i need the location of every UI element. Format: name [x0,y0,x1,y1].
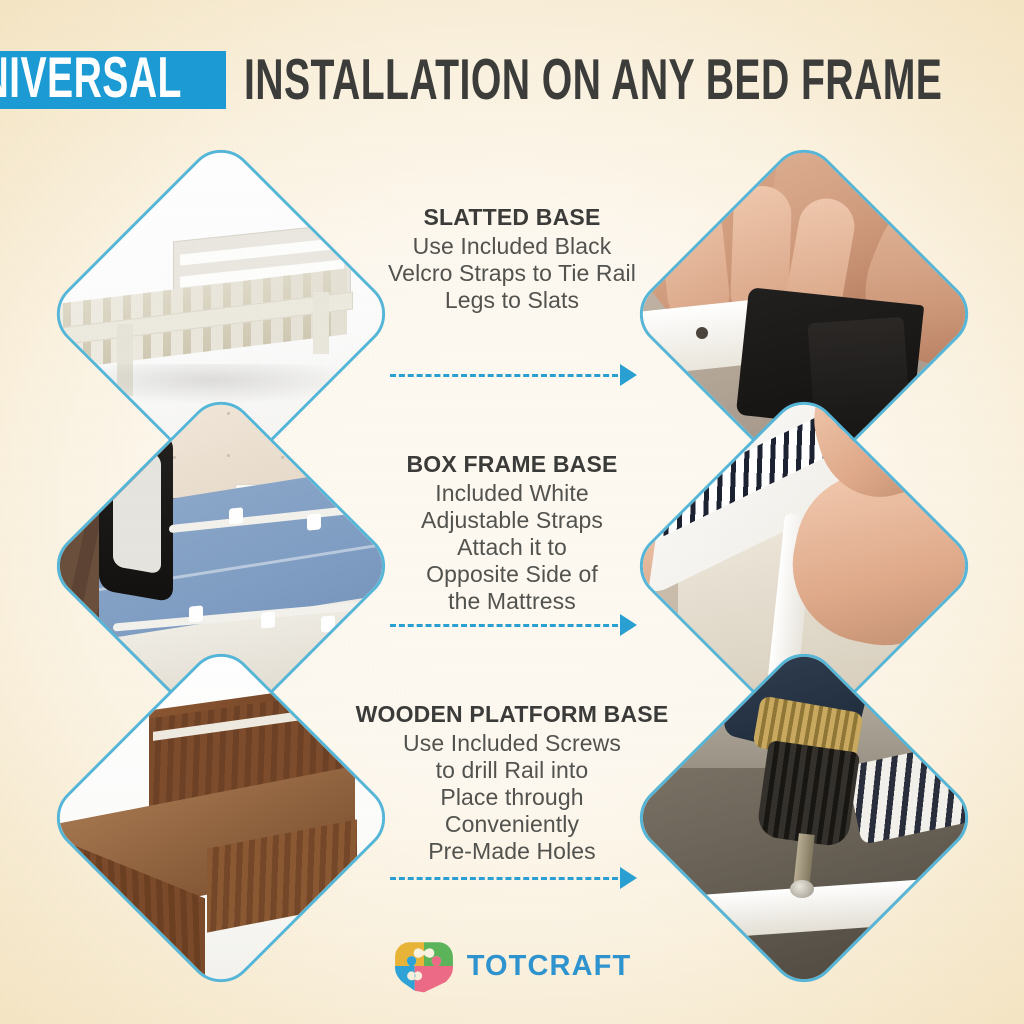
section-box-frame-text: BOX FRAME BASE Included White Adjustable… [347,452,677,615]
header: UNIVERSAL INSTALLATION ON ANY BED FRAME [0,44,1024,116]
section-wooden-platform-text: WOODEN PLATFORM BASE Use Included Screws… [347,702,677,865]
infographic-canvas: UNIVERSAL INSTALLATION ON ANY BED FRAME [0,0,1024,1024]
brand-logo: TOTCRAFT [0,938,1024,994]
arrow-head-icon [620,867,637,889]
header-subtitle: INSTALLATION ON ANY BED FRAME [244,51,942,109]
flow-arrow-1 [390,368,637,382]
arrow-dashed-line [390,877,618,880]
section-title-box-frame: BOX FRAME BASE [347,452,677,478]
section-body-wooden-platform: Use Included Screws to drill Rail into P… [347,730,677,866]
section-body-slatted-base: Use Included Black Velcro Straps to Tie … [347,233,677,314]
flow-arrow-2 [390,618,637,632]
puzzle-heart-icon [393,939,455,993]
section-body-box-frame: Included White Adjustable Straps Attach … [347,480,677,616]
header-highlight-word: UNIVERSAL [0,50,182,108]
header-highlight-box: UNIVERSAL [0,51,226,109]
arrow-head-icon [620,364,637,386]
arrow-dashed-line [390,624,618,627]
section-title-slatted-base: SLATTED BASE [347,205,677,231]
arrow-dashed-line [390,374,618,377]
section-slatted-base-text: SLATTED BASE Use Included Black Velcro S… [347,205,677,314]
section-title-wooden-platform: WOODEN PLATFORM BASE [347,702,677,728]
brand-name: TOTCRAFT [467,950,632,983]
arrow-head-icon [620,614,637,636]
flow-arrow-3 [390,871,637,885]
